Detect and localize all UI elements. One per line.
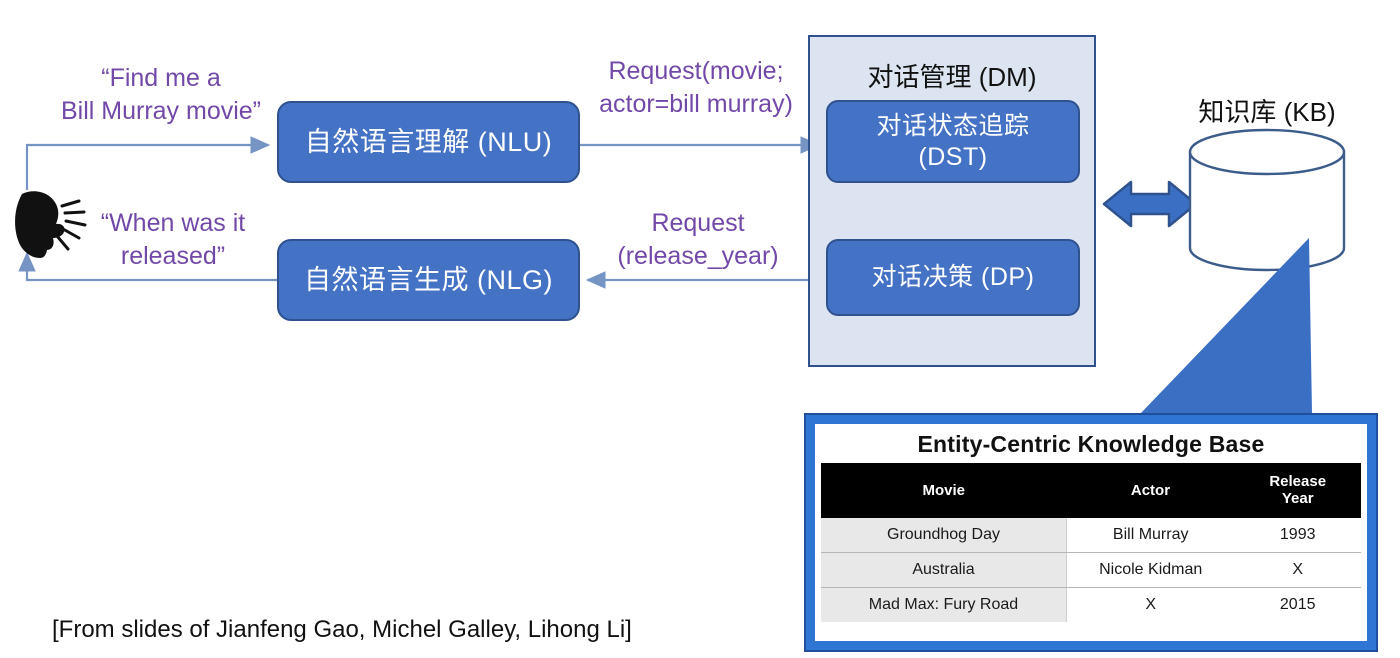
column-header-movie: Movie: [821, 463, 1066, 518]
nlu-label: 自然语言理解 (NLU): [305, 126, 553, 159]
cell-release-year: 2015: [1234, 587, 1361, 622]
request-from-dp-label: Request (release_year): [600, 207, 796, 272]
user-utterance-output: “When was it released”: [78, 207, 268, 272]
kb-table: Movie Actor Release Year Groundhog Day B…: [821, 463, 1361, 622]
request-to-dm-label: Request(movie; actor=bill murray): [584, 55, 808, 120]
user-utterance-input: “Find me a Bill Murray movie”: [36, 62, 286, 127]
source-caption: [From slides of Jianfeng Gao, Michel Gal…: [52, 616, 632, 644]
table-row: Australia Nicole Kidman X: [821, 552, 1361, 587]
knowledge-base-cylinder: [1190, 130, 1344, 270]
dst-module-box[interactable]: 对话状态追踪 (DST): [826, 100, 1080, 183]
nlg-label: 自然语言生成 (NLG): [304, 264, 553, 297]
dm-title: 对话管理 (DM): [810, 57, 1094, 94]
arrow-user-to-nlu: [27, 145, 268, 190]
dst-label: 对话状态追踪 (DST): [876, 111, 1029, 172]
arrow-dm-kb-bidirectional: [1104, 182, 1196, 226]
cell-actor: Nicole Kidman: [1066, 552, 1234, 587]
dp-label: 对话决策 (DP): [872, 262, 1035, 293]
column-header-release-year: Release Year: [1234, 463, 1361, 518]
nlg-module-box[interactable]: 自然语言生成 (NLG): [277, 239, 580, 321]
dp-module-box[interactable]: 对话决策 (DP): [826, 239, 1080, 316]
dialogue-manager-container: 对话管理 (DM) 对话状态追踪 (DST) 对话决策 (DP): [808, 35, 1096, 367]
column-header-actor: Actor: [1066, 463, 1234, 518]
cell-release-year: 1993: [1234, 518, 1361, 553]
table-header-row: Movie Actor Release Year: [821, 463, 1361, 518]
kb-label: 知识库 (KB): [1167, 92, 1367, 129]
kb-table-frame: Entity-Centric Knowledge Base Movie Acto…: [804, 413, 1378, 652]
kb-table-title: Entity-Centric Knowledge Base: [821, 428, 1361, 463]
cell-movie: Australia: [821, 552, 1066, 587]
cell-movie: Groundhog Day: [821, 518, 1066, 553]
cell-movie: Mad Max: Fury Road: [821, 587, 1066, 622]
table-row: Groundhog Day Bill Murray 1993: [821, 518, 1361, 553]
cell-release-year: X: [1234, 552, 1361, 587]
nlu-module-box[interactable]: 自然语言理解 (NLU): [277, 101, 580, 183]
kb-table-inner: Entity-Centric Knowledge Base Movie Acto…: [815, 424, 1367, 641]
cell-actor: Bill Murray: [1066, 518, 1234, 553]
cell-actor: X: [1066, 587, 1234, 622]
table-row: Mad Max: Fury Road X 2015: [821, 587, 1361, 622]
speaking-head-icon: [15, 191, 85, 258]
